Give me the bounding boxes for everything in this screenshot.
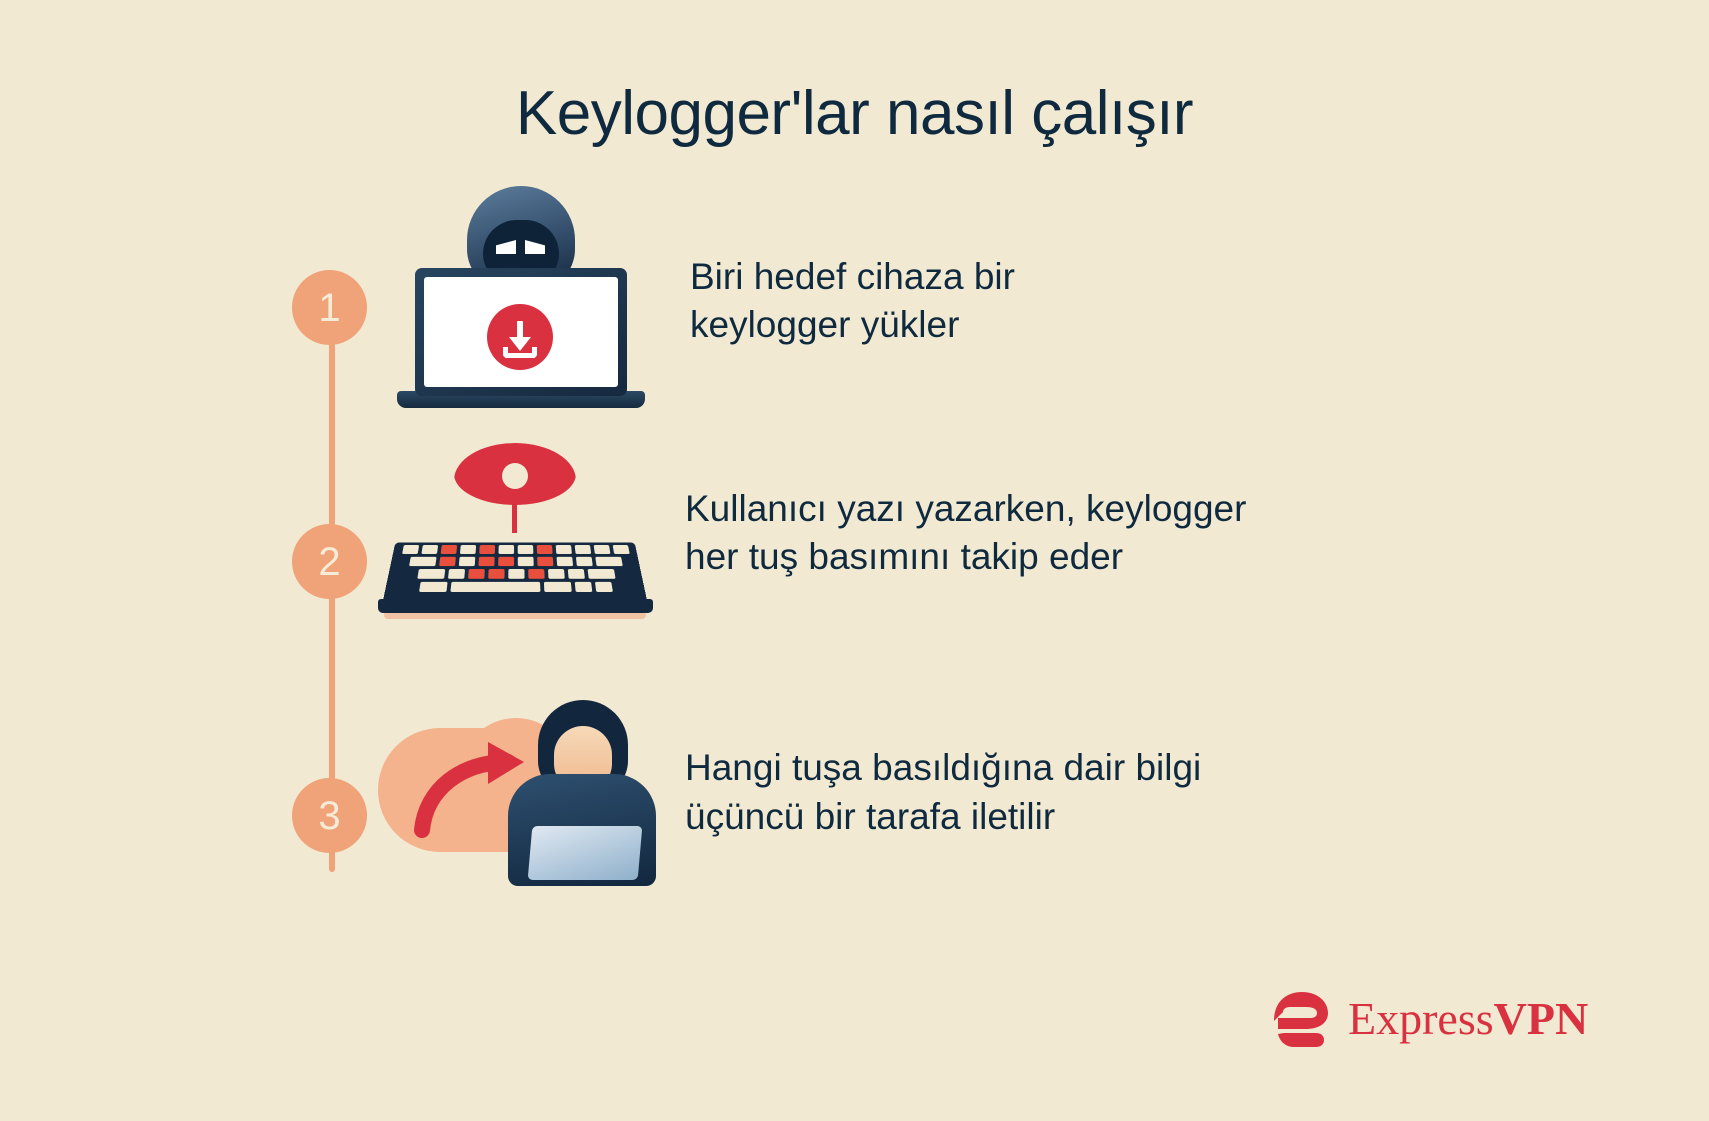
download-icon [487, 304, 553, 370]
keyboard-key-highlighted [468, 569, 485, 579]
keyboard-key [460, 545, 476, 554]
download-tray [503, 347, 537, 358]
keyboard-key [447, 569, 464, 579]
keyboard-key-wide [409, 557, 437, 566]
timeline-step-marker-1: 1 [292, 270, 367, 345]
keyboard-key [594, 545, 611, 554]
third-party-figure-icon [508, 700, 656, 885]
keyboard-key-wide [419, 582, 448, 592]
keyboard-key [556, 545, 572, 554]
keyboard-key [508, 569, 524, 579]
keyboard-key [402, 545, 419, 554]
keyboard-key [613, 545, 630, 554]
keyboard-key [498, 545, 514, 554]
figure-laptop-icon [528, 826, 643, 880]
keyboard-key-wide [595, 557, 623, 566]
eye-pupil-icon [502, 463, 528, 489]
keyboard-row [393, 582, 640, 592]
keyboard-key-highlighted [479, 545, 495, 554]
keyboard-key [459, 557, 476, 566]
keyboard-key-highlighted [478, 557, 494, 566]
step-row-2: Kullanıcı yazı yazarken, keylogger her t… [378, 443, 1246, 623]
step-3-caption: Hangi tuşa basıldığına dair bilgi üçüncü… [685, 744, 1201, 840]
keyboard-key [557, 557, 574, 566]
page-title: Keylogger'lar nasıl çalışır [0, 78, 1709, 149]
expressvpn-logo: ExpressVPN [1272, 988, 1588, 1050]
logo-vpn-text: VPN [1494, 993, 1589, 1044]
keyboard-row [400, 545, 631, 554]
keyboard-key-highlighted [537, 545, 553, 554]
keyboard-key-wide [587, 569, 615, 579]
step-row-3: Hangi tuşa basıldığına dair bilgi üçüncü… [378, 700, 1201, 885]
keyboard-key [421, 545, 438, 554]
keyboard-key [518, 557, 534, 566]
keyboard-key-highlighted [441, 545, 458, 554]
keyboard-key-wide [544, 582, 572, 592]
timeline-step-marker-3: 3 [292, 778, 367, 853]
keyboard-key-wide [417, 569, 445, 579]
step-3-illustration [378, 700, 653, 885]
keyboard-key-highlighted [528, 569, 544, 579]
keyboard-icon [378, 521, 653, 621]
logo-express-text: Express [1348, 993, 1494, 1044]
keyboard-key [595, 582, 613, 592]
expressvpn-wordmark: ExpressVPN [1348, 996, 1588, 1042]
step-2-illustration [378, 443, 653, 623]
keyboard-key-highlighted [439, 557, 456, 566]
keyboard-key [567, 569, 584, 579]
keyboard-key-highlighted [488, 569, 504, 579]
step-2-caption: Kullanıcı yazı yazarken, keylogger her t… [685, 485, 1246, 581]
step-1-illustration [395, 186, 645, 416]
keyboard-key-highlighted [537, 557, 553, 566]
expressvpn-mark-icon [1272, 988, 1334, 1050]
keyboard-key [548, 569, 565, 579]
timeline-step-marker-2: 2 [292, 524, 367, 599]
timeline: 1 2 3 [292, 270, 372, 910]
keyboard-keys [391, 545, 641, 600]
infographic-canvas: Keylogger'lar nasıl çalışır 1 2 3 [0, 0, 1709, 1121]
keyboard-key [575, 545, 592, 554]
keyboard-spacebar [450, 582, 540, 592]
keyboard-key [575, 582, 593, 592]
keyboard-key-highlighted [498, 557, 514, 566]
step-1-caption: Biri hedef cihaza bir keylogger yükler [690, 253, 1015, 349]
keyboard-key [576, 557, 593, 566]
keyboard-body [382, 542, 648, 605]
keyboard-row [398, 557, 634, 566]
step-row-1: Biri hedef cihaza bir keylogger yükler [395, 186, 1015, 416]
keyboard-row [395, 569, 636, 579]
keyboard-key [518, 545, 534, 554]
